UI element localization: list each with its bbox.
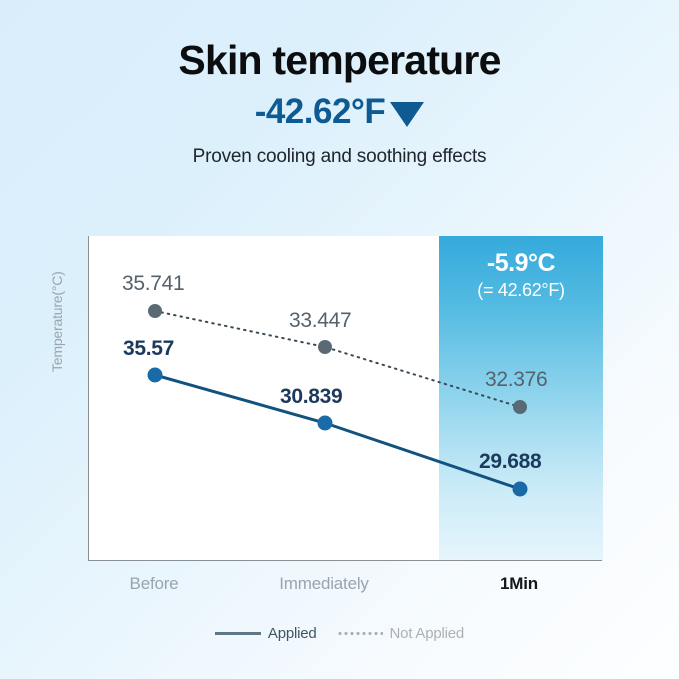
x-label-before: Before	[130, 574, 179, 594]
value-label-not-applied-before: 35.741	[122, 273, 184, 294]
data-point-applied	[513, 482, 528, 497]
legend-item-applied: Applied	[215, 625, 317, 642]
x-axis-labels: Before Immediately 1Min	[88, 574, 602, 600]
data-point-not-applied	[148, 304, 162, 318]
data-point-not-applied	[318, 340, 332, 354]
plot-area: -5.9°C (= 42.62°F) 35.741 33.447 32.376	[88, 236, 602, 561]
value-label-applied-1min: 29.688	[479, 451, 541, 472]
y-axis-title: Temperature(°C)	[49, 232, 67, 372]
data-point-not-applied	[513, 400, 527, 414]
data-point-applied	[318, 416, 333, 431]
value-label-applied-before: 35.57	[123, 338, 174, 359]
legend-label-not-applied: Not Applied	[390, 625, 465, 642]
x-label-immediately: Immediately	[279, 574, 368, 594]
data-point-applied	[148, 368, 163, 383]
value-label-not-applied-1min: 32.376	[485, 369, 547, 390]
legend-label-applied: Applied	[268, 625, 317, 642]
infographic-page: Skin temperature -42.62°F Proven cooling…	[0, 0, 679, 679]
chart-legend: Applied Not Applied	[0, 625, 679, 642]
line-chart: Temperature(°C) -5.9°C (= 42.62°F)	[0, 0, 679, 679]
legend-swatch-solid-line-icon	[215, 632, 261, 635]
x-label-1min: 1Min	[500, 574, 538, 594]
legend-item-not-applied: Not Applied	[337, 625, 465, 642]
value-label-not-applied-immediately: 33.447	[289, 310, 351, 331]
value-label-applied-immediately: 30.839	[280, 386, 342, 407]
legend-swatch-dotted-line-icon	[337, 632, 383, 635]
